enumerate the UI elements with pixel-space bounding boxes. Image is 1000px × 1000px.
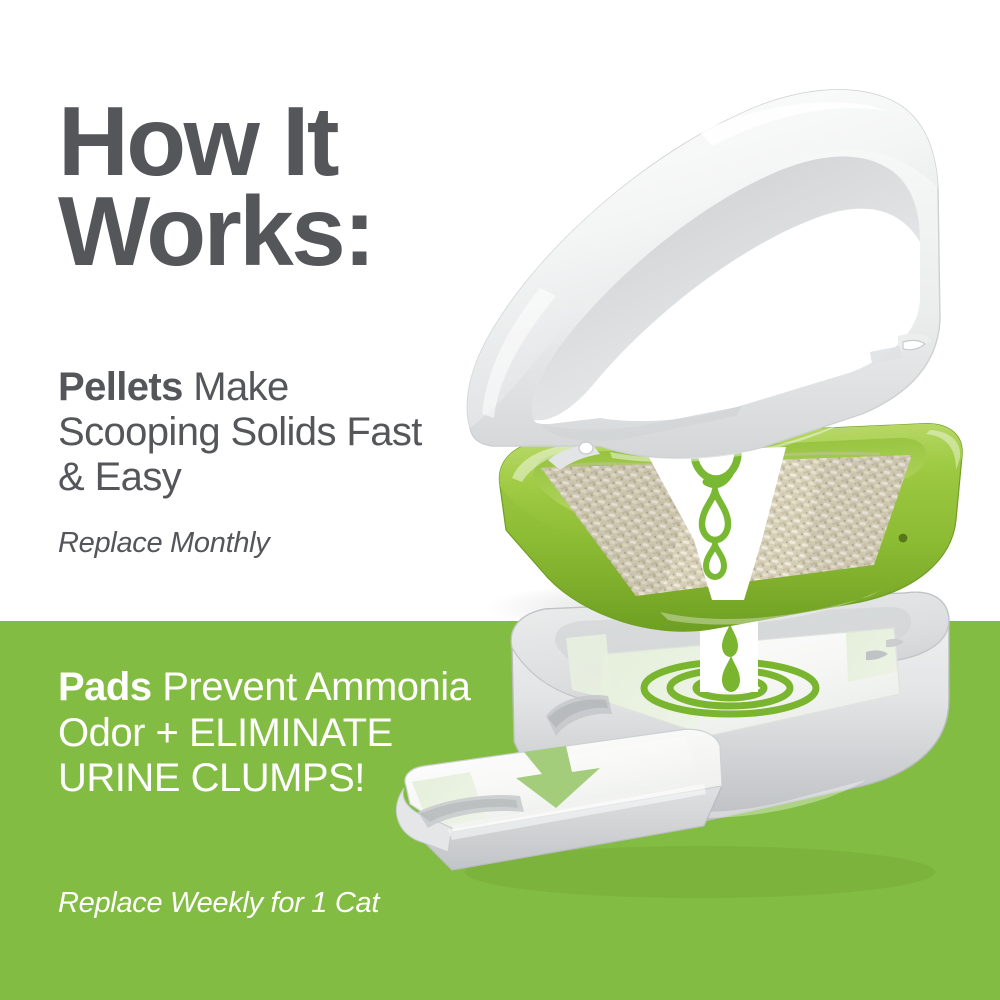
pads-bold-word: Pads (58, 665, 152, 709)
pellets-replace-note: Replace Monthly (58, 527, 478, 560)
headline-line-2: Works: (58, 186, 528, 276)
page-title: How It Works: (58, 96, 528, 276)
pellets-bold-word: Pellets (58, 365, 183, 409)
pads-description: Pads Prevent Ammonia Odor + ELIMINATE UR… (58, 665, 478, 802)
pellets-description: Pellets Make Scooping Solids Fast & Easy (58, 365, 458, 501)
infographic-canvas: How It Works: Pellets Make Scooping Soli… (0, 0, 1000, 1000)
pads-replace-note: Replace Weekly for 1 Cat (58, 887, 528, 920)
